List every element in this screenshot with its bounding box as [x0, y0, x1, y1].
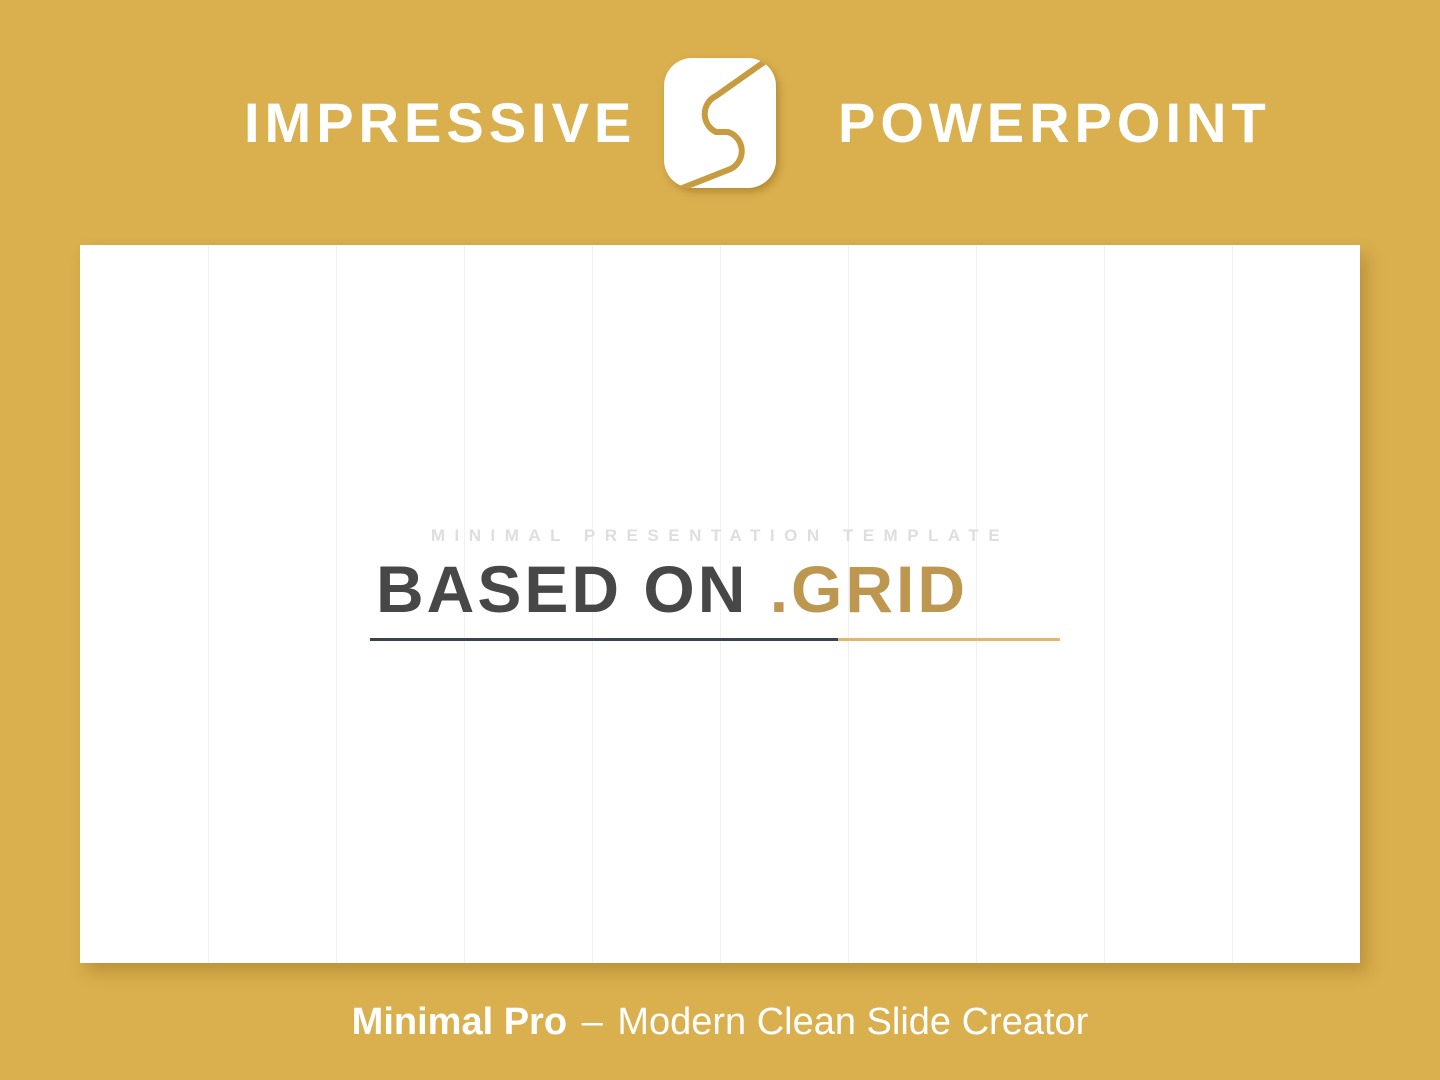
grid-line: [208, 245, 209, 963]
caption-separator: –: [582, 1003, 603, 1041]
underline-gold-segment: [838, 638, 1060, 641]
grid-line: [1104, 245, 1105, 963]
top-banner: IMPRESSIVE POWERPOINT: [0, 0, 1440, 245]
banner-right-word: POWERPOINT: [776, 95, 1196, 151]
slide-title-block: MINIMAL PRESENTATION TEMPLATE BASED ON .…: [370, 527, 1070, 641]
slide-headline: BASED ON .GRID: [370, 556, 1070, 622]
slide-underline: [370, 638, 1060, 641]
headline-space: [748, 552, 769, 626]
caption-spacer-right: [603, 1003, 618, 1041]
caption-product-name: Minimal Pro: [352, 1003, 567, 1041]
s-mark-logo-icon: [664, 58, 776, 188]
poster-canvas: IMPRESSIVE POWERPOINT: [0, 0, 1440, 1080]
slide-headline-gold: .GRID: [770, 552, 968, 626]
slide-eyebrow: MINIMAL PRESENTATION TEMPLATE: [370, 527, 1070, 544]
grid-line: [336, 245, 337, 963]
slide-canvas: MINIMAL PRESENTATION TEMPLATE BASED ON .…: [80, 245, 1360, 963]
grid-line: [1232, 245, 1233, 963]
caption-tagline: Modern Clean Slide Creator: [617, 1003, 1088, 1041]
slide-shadow: MINIMAL PRESENTATION TEMPLATE BASED ON .…: [80, 245, 1360, 963]
banner-left-word: IMPRESSIVE: [244, 95, 664, 151]
slide-headline-dark: BASED ON: [376, 552, 748, 626]
underline-dark-segment: [370, 638, 838, 641]
caption-spacer-left: [567, 1003, 582, 1041]
bottom-caption: Minimal Pro – Modern Clean Slide Creator: [0, 963, 1440, 1080]
